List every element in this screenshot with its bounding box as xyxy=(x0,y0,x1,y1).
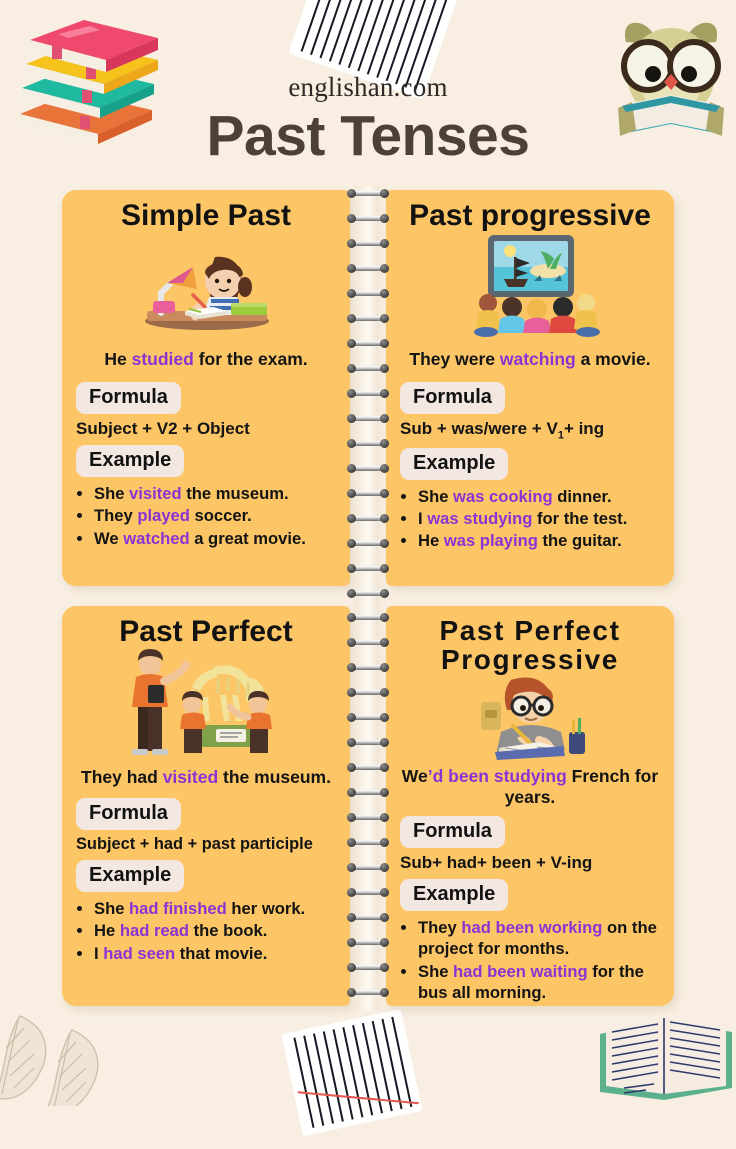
museum-dinosaur-tour-icon xyxy=(62,649,350,759)
spiral-ring xyxy=(344,414,392,423)
example-highlight: had read xyxy=(120,921,189,940)
list-item: She had finished her work. xyxy=(94,898,340,919)
example-highlight: played xyxy=(137,506,190,525)
card-heading-line1: Past PerfectProgressive xyxy=(439,615,620,675)
spiral-ring xyxy=(344,613,392,622)
card-lead-sentence: We’d been studying French for years. xyxy=(386,766,674,808)
example-part: He xyxy=(94,921,120,940)
lead-part: They had xyxy=(81,767,163,787)
lead-highlight: watching xyxy=(500,349,576,369)
lead-highlight: ’d been studying xyxy=(428,766,567,786)
spiral-ring xyxy=(344,838,392,847)
example-part: dinner. xyxy=(553,487,612,506)
example-part: the guitar. xyxy=(538,531,622,550)
formula-label: Formula xyxy=(400,382,505,414)
example-label: Example xyxy=(76,445,184,477)
list-item: I was studying for the test. xyxy=(418,508,664,529)
spiral-ring xyxy=(344,464,392,473)
list-item: We watched a great movie. xyxy=(94,528,340,549)
lead-highlight: studied xyxy=(132,349,194,369)
lead-part: They were xyxy=(409,349,499,369)
example-part: I xyxy=(418,509,427,528)
example-part: a great movie. xyxy=(190,529,306,548)
spiral-ring xyxy=(344,863,392,872)
list-item: She had been waiting for the bus all mor… xyxy=(418,961,664,1003)
example-label: Example xyxy=(76,860,184,892)
spiral-ring xyxy=(344,339,392,348)
example-part: her work. xyxy=(227,899,305,918)
card-lead-sentence: He studied for the exam. xyxy=(62,349,350,370)
spiral-ring xyxy=(344,239,392,248)
example-part: They xyxy=(418,918,461,937)
spiral-ring xyxy=(344,713,392,722)
boy-writing-notes-icon xyxy=(386,674,674,760)
formula-text: Subject + had + past participle xyxy=(62,830,350,857)
spiral-ring xyxy=(344,514,392,523)
spiral-binding xyxy=(344,186,392,1010)
example-part: for the test. xyxy=(532,509,627,528)
example-highlight: had finished xyxy=(129,899,227,918)
lead-part: the museum. xyxy=(218,767,331,787)
spiral-ring xyxy=(344,539,392,548)
example-highlight: had been waiting xyxy=(453,962,588,981)
card-heading: Past progressive xyxy=(386,190,674,231)
lead-part: He xyxy=(104,349,131,369)
card-heading: Simple Past xyxy=(62,190,350,231)
children-watching-tablet-icon xyxy=(386,233,674,337)
list-item: I had seen that movie. xyxy=(94,943,340,964)
example-list: She visited the museum. They played socc… xyxy=(62,483,350,549)
spiral-ring xyxy=(344,638,392,647)
example-highlight: had seen xyxy=(103,944,175,963)
example-list: She had finished her work. He had read t… xyxy=(62,898,350,964)
formula-label: Formula xyxy=(76,798,181,830)
spiral-ring xyxy=(344,589,392,598)
formula-label: Formula xyxy=(400,816,505,848)
formula-text: Sub + was/were + V1+ ing xyxy=(386,414,674,444)
example-highlight: was cooking xyxy=(453,487,553,506)
card-lead-sentence: They had visited the museum. xyxy=(62,767,350,788)
lead-highlight: visited xyxy=(163,767,218,787)
spiral-ring xyxy=(344,189,392,198)
spiral-ring xyxy=(344,439,392,448)
example-label: Example xyxy=(400,448,508,480)
spiral-ring xyxy=(344,264,392,273)
spiral-ring xyxy=(344,888,392,897)
example-part: She xyxy=(418,962,453,981)
spiral-ring xyxy=(344,314,392,323)
card-lead-sentence: They were watching a movie. xyxy=(386,349,674,370)
formula-label: Formula xyxy=(76,382,181,414)
example-part: She xyxy=(94,899,129,918)
formula-text: Subject + V2 + Object xyxy=(62,414,350,442)
spiral-ring xyxy=(344,389,392,398)
spiral-ring xyxy=(344,289,392,298)
lead-part: for the exam. xyxy=(194,349,308,369)
card-heading: Past Perfect xyxy=(62,606,350,647)
list-item: He had read the book. xyxy=(94,920,340,941)
example-highlight: was studying xyxy=(427,509,532,528)
spiral-ring xyxy=(344,963,392,972)
spiral-ring xyxy=(344,988,392,997)
formula-subscript: 1 xyxy=(558,430,564,442)
example-part: She xyxy=(418,487,453,506)
example-list: She was cooking dinner. I was studying f… xyxy=(386,486,674,552)
tense-card-past-perfect-progressive[interactable]: Past PerfectProgressive xyxy=(386,606,674,1006)
spiral-ring xyxy=(344,214,392,223)
example-part: They xyxy=(94,506,137,525)
spiral-ring xyxy=(344,364,392,373)
lead-part: We xyxy=(402,766,428,786)
example-part: the museum. xyxy=(182,484,289,503)
list-item: He was playing the guitar. xyxy=(418,530,664,551)
example-highlight: watched xyxy=(123,529,189,548)
list-item: They played soccer. xyxy=(94,505,340,526)
spiral-ring xyxy=(344,763,392,772)
example-part: that movie. xyxy=(175,944,267,963)
example-part: I xyxy=(94,944,103,963)
example-label: Example xyxy=(400,879,508,911)
spiral-ring xyxy=(344,738,392,747)
spiral-ring xyxy=(344,913,392,922)
example-part: the book. xyxy=(189,921,267,940)
spiral-ring xyxy=(344,489,392,498)
list-item: She was cooking dinner. xyxy=(418,486,664,507)
example-part: He xyxy=(418,531,444,550)
list-item: They had been working on the project for… xyxy=(418,917,664,959)
example-part: We xyxy=(94,529,123,548)
example-list: They had been working on the project for… xyxy=(386,917,674,1003)
spiral-ring xyxy=(344,688,392,697)
formula-text: Sub+ had+ been + V-ing xyxy=(386,848,674,876)
list-item: She visited the museum. xyxy=(94,483,340,504)
spiral-ring xyxy=(344,938,392,947)
girl-studying-at-desk-icon xyxy=(62,235,350,335)
example-highlight: had been working xyxy=(461,918,602,937)
tense-card-simple-past[interactable]: Simple Past xyxy=(62,190,350,586)
example-part: soccer. xyxy=(190,506,252,525)
spiral-ring xyxy=(344,813,392,822)
example-part: She xyxy=(94,484,129,503)
tense-card-past-progressive[interactable]: Past progressive xyxy=(386,190,674,586)
spiral-ring xyxy=(344,663,392,672)
lead-part: a movie. xyxy=(576,349,651,369)
tense-card-past-perfect[interactable]: Past Perfect xyxy=(62,606,350,1006)
spiral-ring xyxy=(344,564,392,573)
example-highlight: was playing xyxy=(444,531,538,550)
spiral-ring xyxy=(344,788,392,797)
infographic-canvas: englishan.com Past Tenses Simple Past xyxy=(0,0,736,1104)
example-highlight: visited xyxy=(129,484,182,503)
card-heading: Past PerfectProgressive xyxy=(386,606,674,674)
